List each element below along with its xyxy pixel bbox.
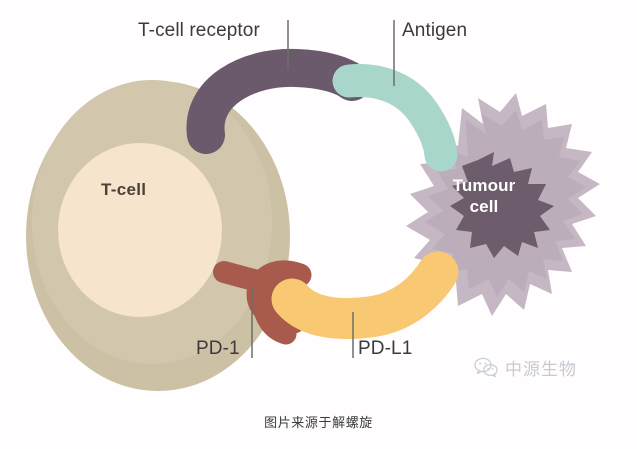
cell-interaction-diagram (0, 0, 637, 449)
watermark-text: 中源生物 (505, 355, 577, 380)
watermark: 中源生物 (474, 355, 577, 380)
pd-l1-shape (292, 272, 438, 319)
figure-caption: 图片来源于解螺旋 (0, 412, 637, 431)
antigen-shape (349, 81, 441, 155)
figure-canvas: T-cell receptor Antigen PD-1 PD-L1 T-cel… (0, 0, 637, 449)
label-antigen: Antigen (402, 20, 467, 42)
label-tumour-cell: Tumour cell (438, 176, 530, 217)
t-cell-nucleus (58, 143, 222, 317)
label-t-cell: T-cell (101, 180, 146, 200)
pd-1-stem (224, 272, 276, 286)
wechat-icon (474, 357, 498, 378)
label-t-cell-receptor: T-cell receptor (138, 20, 260, 42)
label-pd-l1: PD-L1 (358, 338, 412, 360)
label-pd-1: PD-1 (196, 338, 240, 360)
